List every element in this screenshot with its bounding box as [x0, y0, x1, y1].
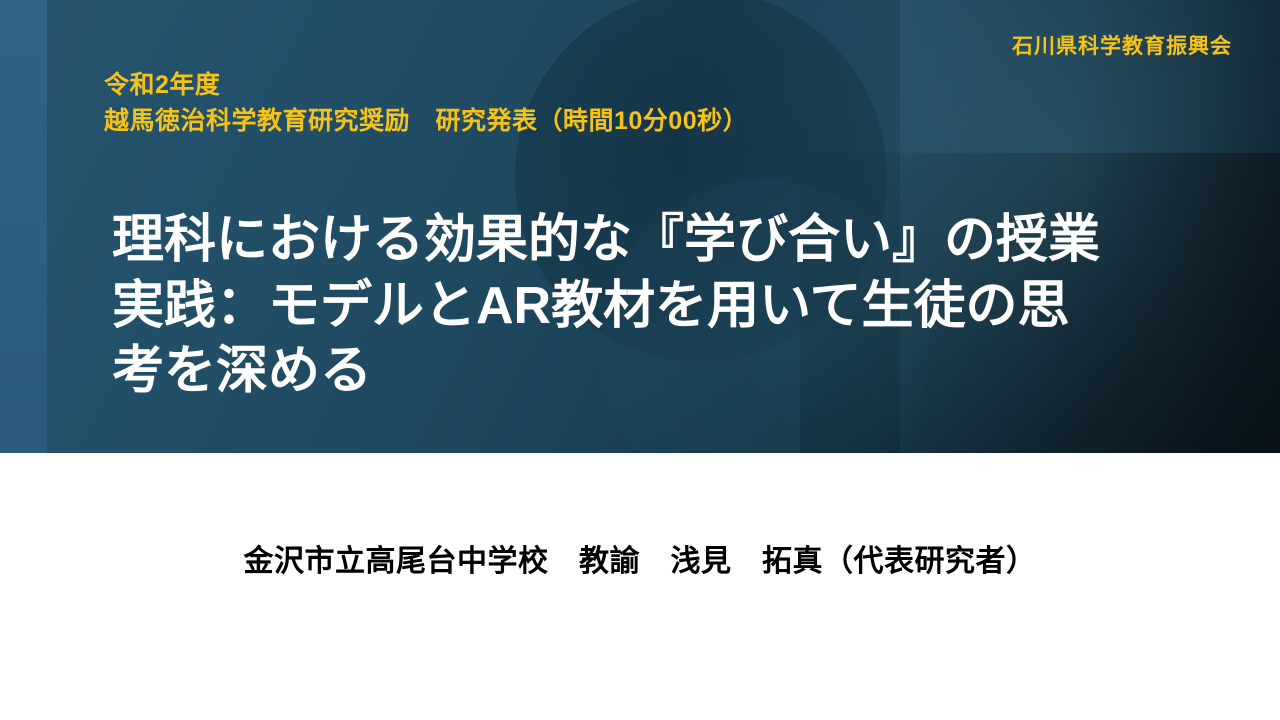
eyebrow-line-event: 越馬徳治科学教育研究奨励 研究発表（時間10分00秒） [104, 104, 748, 140]
title-line-1: 理科における効果的な『学び合い』の授業 [112, 208, 1192, 274]
page-title: 理科における効果的な『学び合い』の授業 実践：モデルとAR教材を用いて生徒の思 … [112, 208, 1192, 405]
organization-label: 石川県科学教育振興会 [1012, 30, 1232, 60]
eyebrow-line-year: 令和2年度 [104, 68, 748, 104]
event-eyebrow-text: 令和2年度 越馬徳治科学教育研究奨励 研究発表（時間10分00秒） [104, 68, 748, 139]
presenter-section: 金沢市立高尾台中学校 教諭 浅見 拓真（代表研究者） [0, 453, 1280, 720]
title-line-2: 実践：モデルとAR教材を用いて生徒の思 [112, 274, 1192, 340]
presenter-credit-line: 金沢市立高尾台中学校 教諭 浅見 拓真（代表研究者） [0, 536, 1280, 580]
banner-left-accent-stripe [0, 0, 47, 453]
title-banner: 石川県科学教育振興会 令和2年度 越馬徳治科学教育研究奨励 研究発表（時間10分… [0, 0, 1280, 453]
title-line-3: 考を深める [112, 339, 1192, 405]
presentation-slide: 石川県科学教育振興会 令和2年度 越馬徳治科学教育研究奨励 研究発表（時間10分… [0, 0, 1280, 720]
